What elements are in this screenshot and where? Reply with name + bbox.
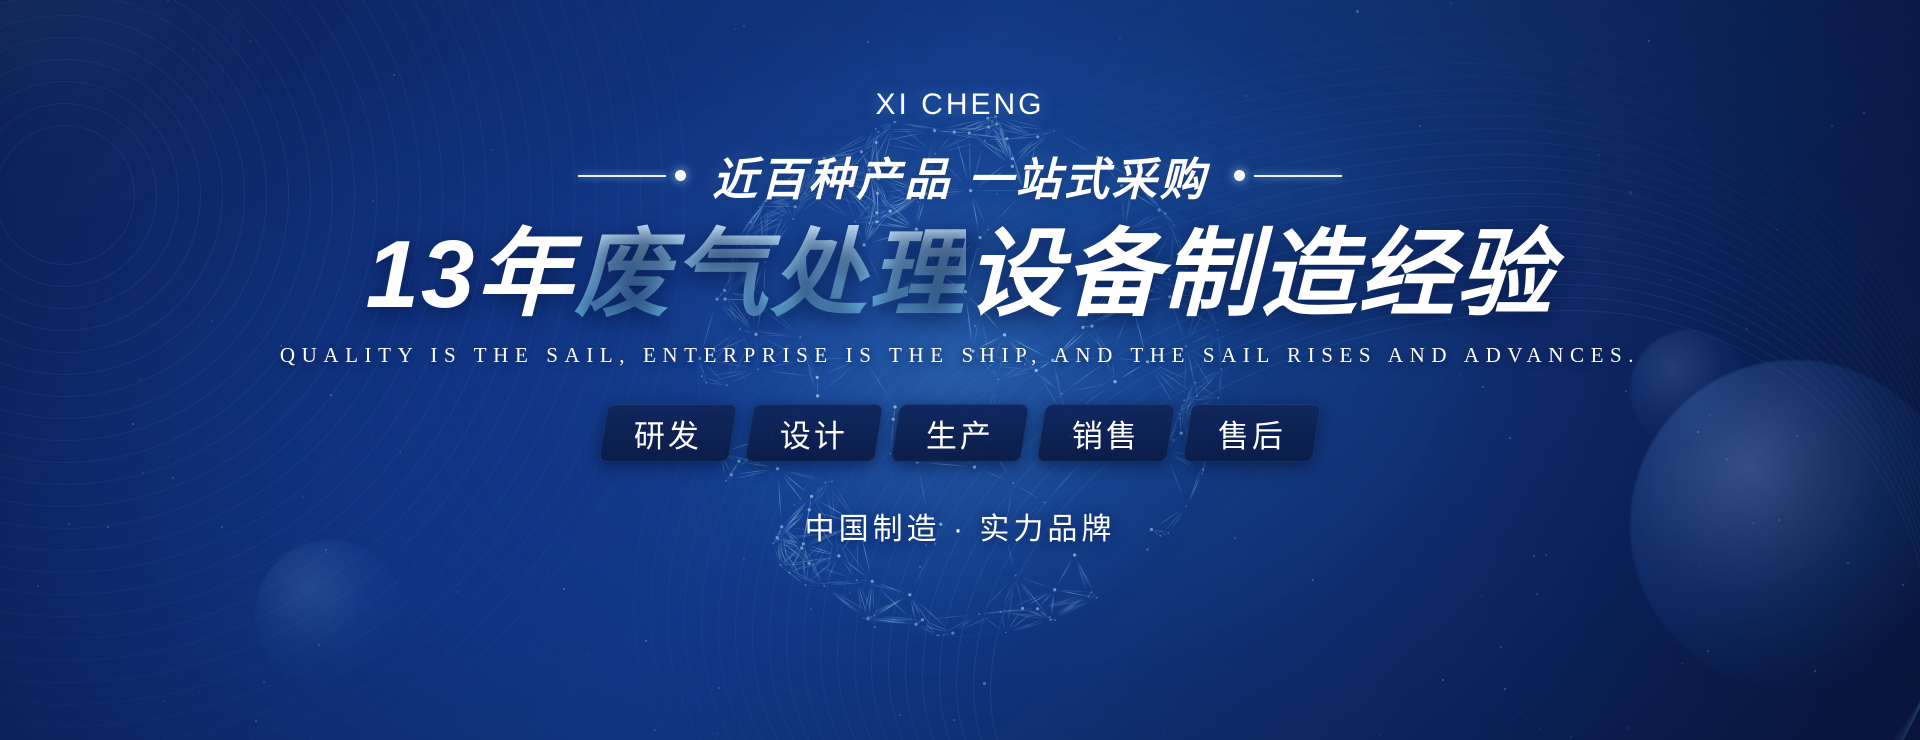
headline: 13年废气处理设备制造经验 bbox=[366, 220, 1555, 329]
service-badge[interactable]: 生产 bbox=[890, 404, 1029, 462]
decorative-dot-right-icon bbox=[1234, 170, 1245, 181]
banner-content: XI CHENG 近百种产品 一站式采购 13年废气处理设备制造经验 QUALI… bbox=[0, 0, 1920, 740]
service-badge-label: 设计 bbox=[780, 411, 848, 456]
decor-right bbox=[1234, 170, 1342, 181]
headline-part-tail: 设备制造经验 bbox=[966, 221, 1554, 328]
tagline-en: QUALITY IS THE SAIL, ENTERPRISE IS THE S… bbox=[280, 343, 1640, 368]
service-badge-label: 生产 bbox=[926, 411, 994, 456]
service-badges-row: 研发设计生产销售售后 bbox=[603, 404, 1317, 462]
service-badge-label: 研发 bbox=[634, 411, 702, 456]
service-badge[interactable]: 设计 bbox=[744, 404, 883, 462]
service-badge-label: 售后 bbox=[1218, 411, 1286, 456]
subheadline-row: 近百种产品 一站式采购 bbox=[578, 143, 1342, 208]
subheadline-text: 近百种产品 一站式采购 bbox=[712, 143, 1208, 208]
headline-part-years: 13年 bbox=[366, 221, 575, 328]
decorative-dot-left-icon bbox=[675, 170, 686, 181]
headline-part-highlight: 废气处理 bbox=[574, 221, 966, 328]
service-badge[interactable]: 售后 bbox=[1182, 404, 1321, 462]
service-badge[interactable]: 研发 bbox=[598, 404, 737, 462]
brand-name-en: XI CHENG bbox=[875, 88, 1044, 122]
hero-banner: XI CHENG 近百种产品 一站式采购 13年废气处理设备制造经验 QUALI… bbox=[0, 0, 1920, 740]
service-badge[interactable]: 销售 bbox=[1036, 404, 1175, 462]
decorative-line-left-icon bbox=[578, 175, 666, 177]
decor-left bbox=[578, 170, 686, 181]
service-badge-label: 销售 bbox=[1072, 411, 1140, 456]
decorative-line-right-icon bbox=[1254, 175, 1342, 177]
footer-slogan: 中国制造 · 实力品牌 bbox=[805, 504, 1116, 548]
